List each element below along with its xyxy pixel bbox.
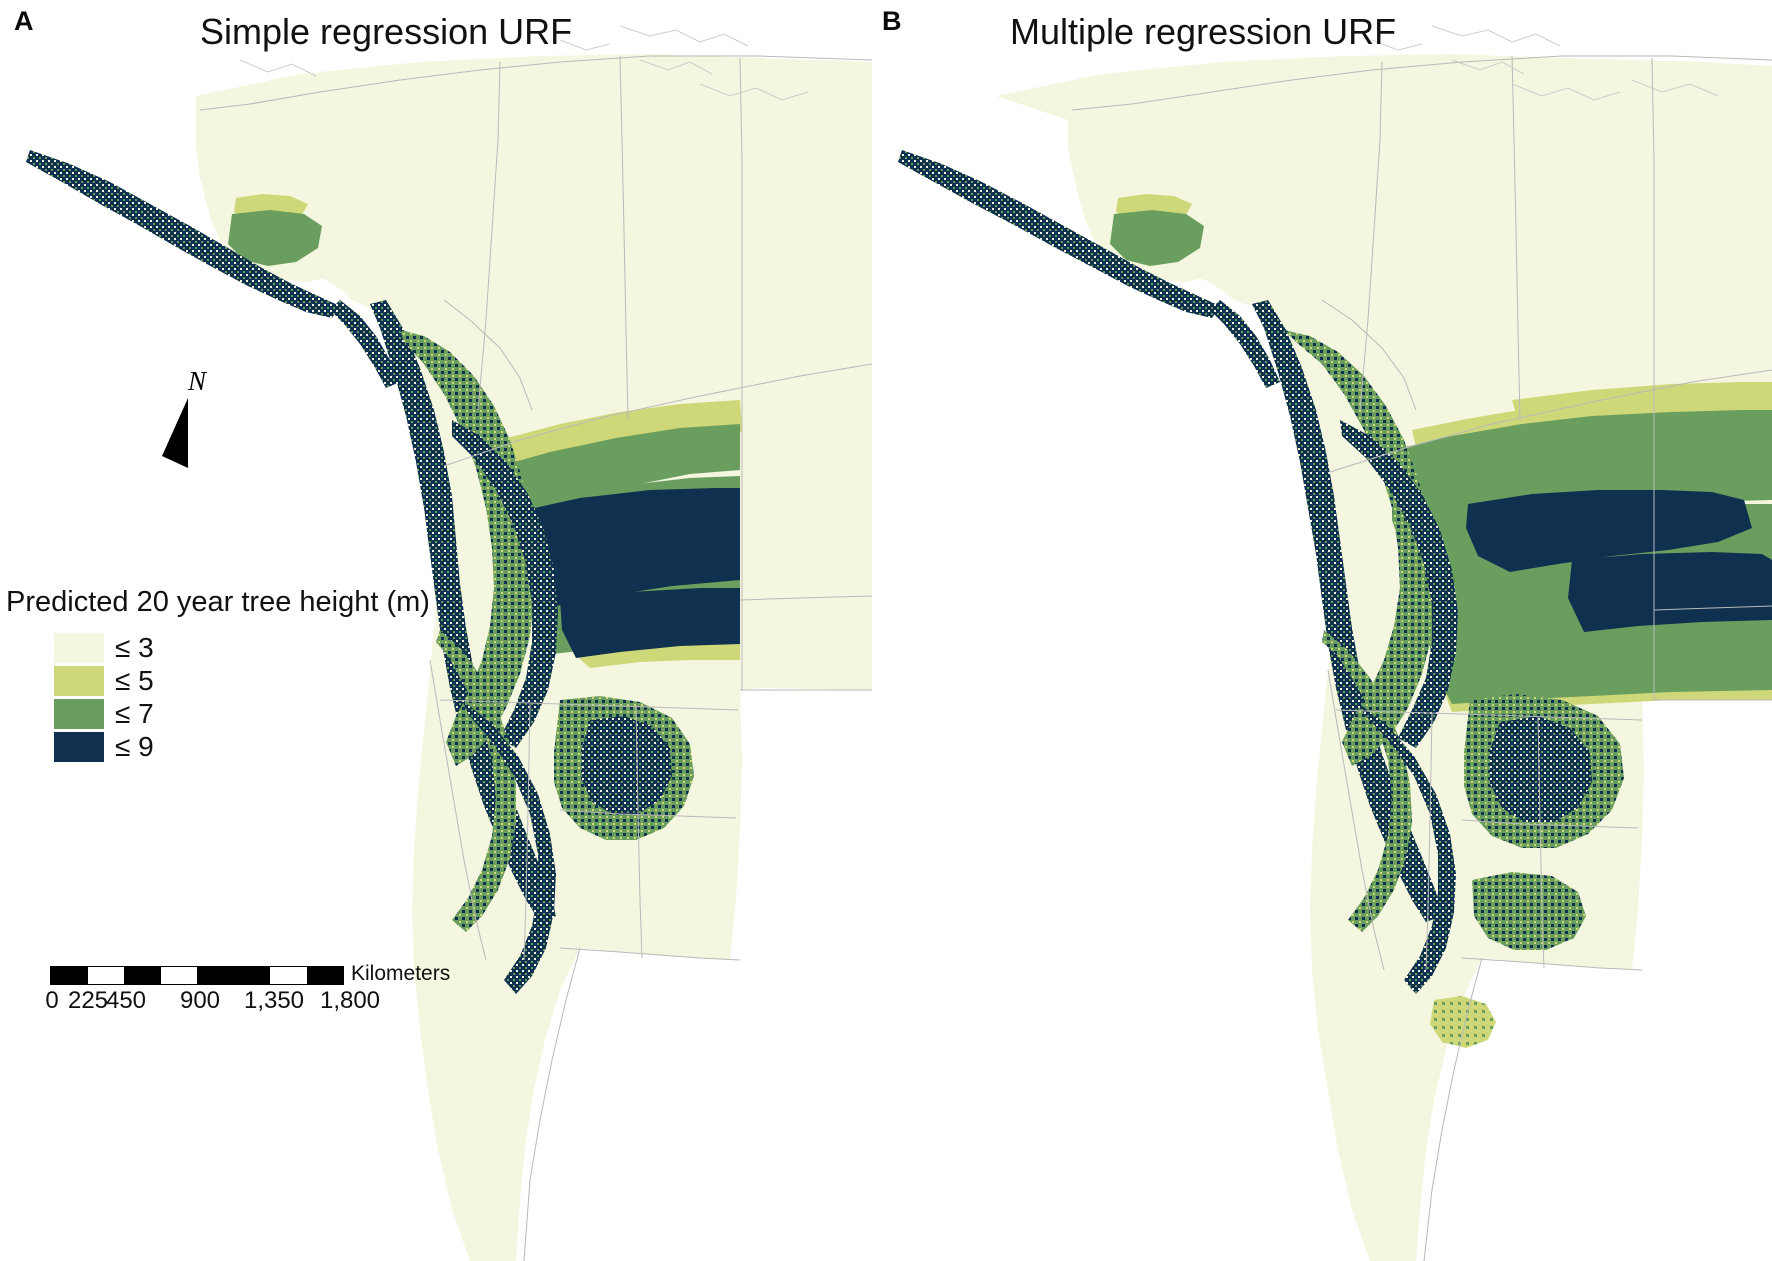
panel-b-letter: B	[882, 8, 902, 35]
legend-item-7: ≤ 7	[54, 697, 466, 730]
scalebar-ticks: 0 225 450 900 1,350 1,800	[50, 989, 450, 1019]
legend-rows: ≤ 3 ≤ 5 ≤ 7 ≤ 9	[54, 631, 466, 763]
scalebar-segment	[270, 967, 307, 984]
map-b	[872, 0, 1772, 1261]
legend-label-3: ≤ 3	[115, 634, 154, 662]
scalebar-tick: 1,800	[320, 989, 380, 1013]
legend-label-7: ≤ 7	[115, 700, 154, 728]
scalebar-bar: Kilometers	[50, 966, 344, 985]
scalebar-units: Kilometers	[351, 963, 450, 984]
panel-a-title: Simple regression URF	[200, 14, 572, 50]
scalebar-segment	[161, 967, 198, 984]
legend-swatch-9	[54, 732, 104, 762]
legend: Predicted 20 year tree height (m) ≤ 3 ≤ …	[6, 588, 466, 763]
legend-label-9: ≤ 9	[115, 733, 154, 761]
legend-item-5: ≤ 5	[54, 664, 466, 697]
scalebar-tick: 1,350	[244, 989, 304, 1013]
legend-swatch-5	[54, 666, 104, 696]
scalebar-segment	[307, 967, 344, 984]
figure-root: A Simple regression URF N Predicted 20 y…	[0, 0, 1772, 1261]
map-b-svg	[872, 0, 1772, 1261]
legend-item-3: ≤ 3	[54, 631, 466, 664]
scalebar-segment	[124, 967, 161, 984]
scalebar-segment	[197, 967, 270, 984]
scalebar-segment	[88, 967, 125, 984]
scalebar-tick: 900	[180, 989, 220, 1013]
legend-title: Predicted 20 year tree height (m)	[6, 588, 466, 617]
legend-swatch-3	[54, 633, 104, 663]
legend-item-9: ≤ 9	[54, 730, 466, 763]
north-arrow-label: N	[188, 368, 206, 395]
legend-label-5: ≤ 5	[115, 667, 154, 695]
panel-b: B Multiple regression URF	[872, 0, 1772, 1261]
scalebar-tick: 450	[106, 989, 146, 1013]
panel-b-title: Multiple regression URF	[1010, 14, 1396, 50]
legend-swatch-7	[54, 699, 104, 729]
panel-a-letter: A	[14, 8, 34, 35]
class9-interior-lower-b	[1568, 552, 1772, 632]
north-arrow: N	[148, 368, 228, 478]
scalebar: Kilometers 0 225 450 900 1,350 1,800	[50, 966, 450, 1019]
scalebar-tick: 225	[68, 989, 108, 1013]
scalebar-tick: 0	[45, 989, 58, 1013]
panel-a: A Simple regression URF N Predicted 20 y…	[0, 0, 872, 1261]
scalebar-segment	[51, 967, 88, 984]
